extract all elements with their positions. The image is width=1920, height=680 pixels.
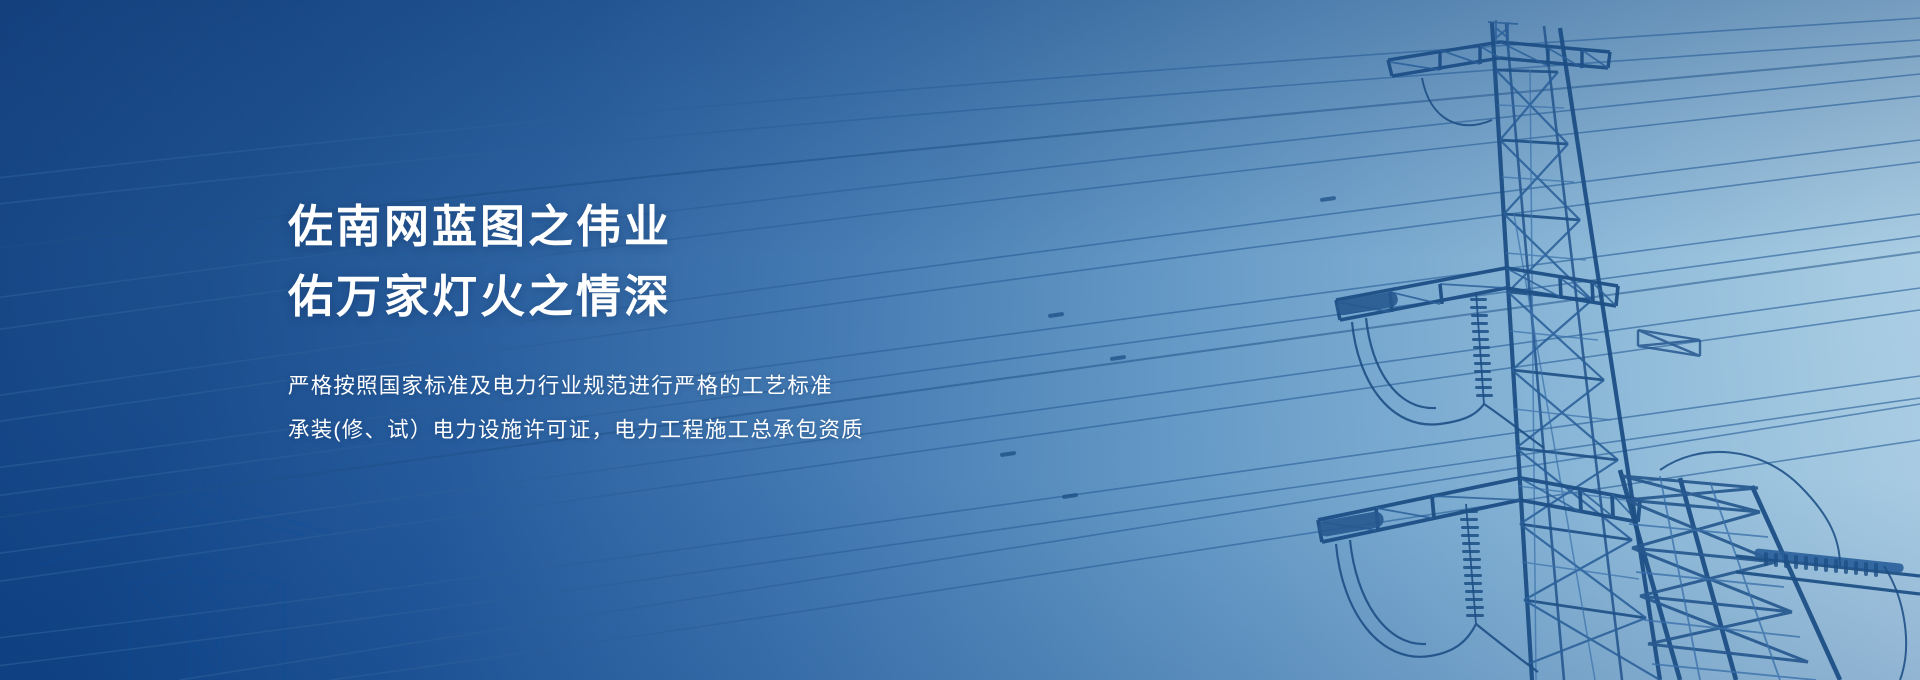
banner-copy: 佐南网蓝图之伟业 佑万家灯火之情深 严格按照国家标准及电力行业规范进行严格的工艺…	[288, 192, 1108, 452]
subline-2: 承装(修、试）电力设施许可证，电力工程施工总承包资质	[288, 408, 1108, 452]
hero-banner: 佐南网蓝图之伟业 佑万家灯火之情深 严格按照国家标准及电力行业规范进行严格的工艺…	[0, 0, 1920, 680]
subheadline-group: 严格按照国家标准及电力行业规范进行严格的工艺标准 承装(修、试）电力设施许可证，…	[288, 364, 1108, 452]
subline-1: 严格按照国家标准及电力行业规范进行严格的工艺标准	[288, 364, 1108, 408]
transmission-tower-graphic	[1140, 0, 1920, 680]
headline-line-1: 佐南网蓝图之伟业	[288, 192, 1108, 262]
headline-line-2: 佑万家灯火之情深	[288, 262, 1108, 332]
